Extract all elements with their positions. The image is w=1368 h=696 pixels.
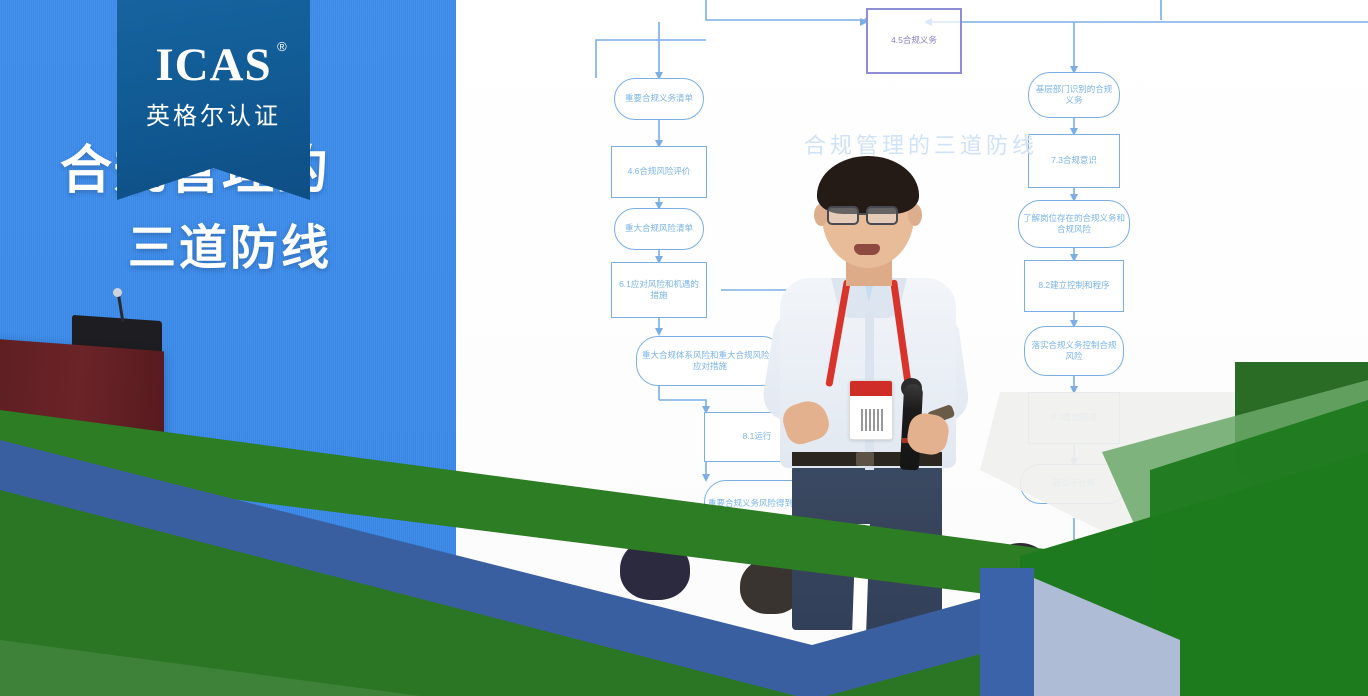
podium: [0, 339, 164, 462]
flow-node-left-1: 重要合规义务清单: [614, 78, 704, 120]
slide-title-line2: 三道防线: [128, 208, 458, 278]
flow-node-left-2: 4.6合规风险评价: [611, 146, 707, 198]
flow-node-right-4: 8.2建立控制和程序: [1024, 260, 1124, 312]
icas-chinese-name: 英格尔认证: [117, 96, 310, 131]
flow-node-left-5: 重大合规体系风险和重大合规风险的应对措施: [636, 336, 784, 386]
badge-header-bar: [850, 381, 892, 396]
icas-wordmark: ICAS®: [155, 42, 271, 89]
podium-microphone-head-icon: [113, 288, 122, 297]
flow-node-right-7: 疑似不合规: [1020, 464, 1128, 504]
icas-brand-text: ICAS: [155, 39, 271, 91]
glasses-bridge-icon: [859, 213, 866, 215]
flow-node-right-2: 7.3合规意识: [1028, 134, 1120, 188]
flow-node-right-3: 了解岗位存在的合规义务和合规风险: [1018, 200, 1130, 248]
audience-head: [1176, 600, 1268, 680]
glasses-lens-icon: [827, 206, 859, 225]
flow-node-central: 4.5合规义务: [866, 8, 962, 74]
flow-node-right-1: 基层部门识别的合规义务: [1028, 72, 1120, 118]
badge-qr-code-icon: [861, 409, 883, 431]
registered-trademark-icon: ®: [277, 40, 288, 53]
flow-node-right-6: 8.3提出疑虑: [1028, 392, 1120, 444]
flow-node-right-5: 落实合规义务控制合规风险: [1024, 326, 1124, 376]
presenter-figure: [770, 152, 980, 622]
presenter-mouth: [854, 244, 880, 255]
glasses-lens-icon: [866, 206, 898, 225]
presentation-screenshot: 合规管理的 三道防线 ICAS® 英格尔认证: [0, 0, 1368, 696]
flow-node-left-4: 6.1应对风险和机遇的措施: [611, 262, 707, 318]
presenter-belt-buckle: [856, 452, 874, 466]
audience-head: [620, 538, 690, 600]
audience-head: [988, 543, 1052, 601]
presenter-name-badge: [849, 380, 893, 440]
flow-node-left-3: 重大合规风险清单: [614, 208, 704, 250]
